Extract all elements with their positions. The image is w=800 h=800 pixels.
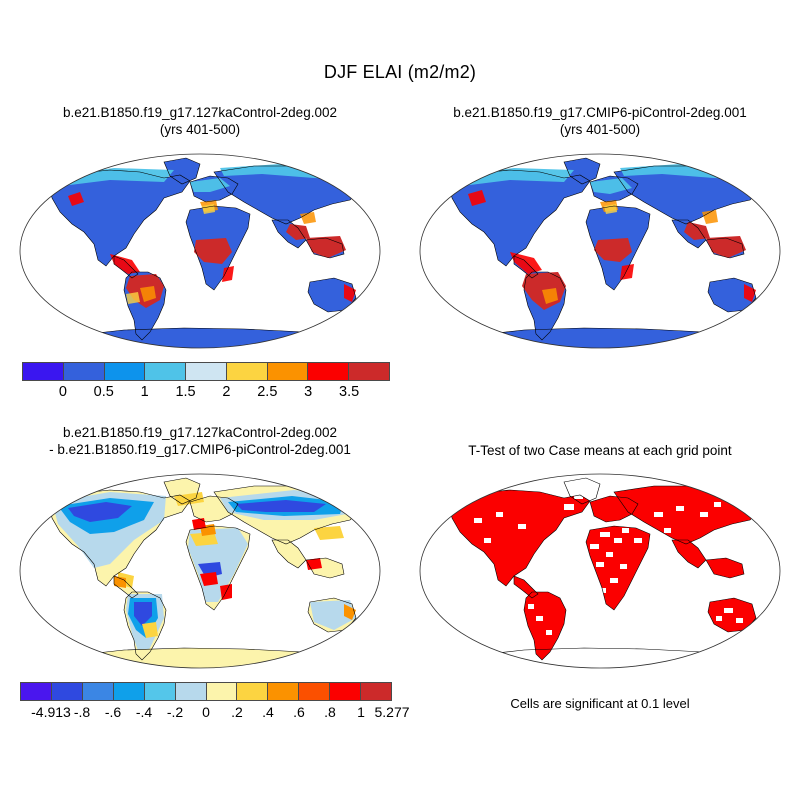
colorbar-tick-label: -.8 bbox=[74, 704, 90, 720]
colorbar-top-left: 00.511.522.533.5 bbox=[22, 362, 390, 414]
colorbar-cell-11 bbox=[361, 683, 391, 700]
colorbar-cell-7 bbox=[308, 363, 349, 380]
colorbar-tick-label: -.6 bbox=[105, 704, 121, 720]
colorbar-tick-label: 0 bbox=[59, 384, 67, 400]
colorbar-cell-4 bbox=[186, 363, 227, 380]
panel-top-right: b.e21.B1850.f19_g17.CMIP6-piControl-2deg… bbox=[400, 100, 800, 430]
map-svg-difference bbox=[14, 468, 386, 678]
colorbar-cell-3 bbox=[145, 363, 186, 380]
colorbar-cell-0 bbox=[23, 363, 64, 380]
colorbar-cell-2 bbox=[83, 683, 114, 700]
colorbar-labels: -4.913-.8-.6-.4-.20.2.4.6.815.277 bbox=[20, 704, 392, 726]
colorbar-cell-9 bbox=[299, 683, 330, 700]
significance-note: Cells are significant at 0.1 level bbox=[400, 696, 800, 711]
colorbar-strip bbox=[22, 362, 390, 381]
colorbar-tick-label: .2 bbox=[231, 704, 243, 720]
colorbar-tick-label: -.2 bbox=[167, 704, 183, 720]
panel-bottom-right-title: T-Test of two Case means at each grid po… bbox=[400, 442, 800, 459]
colorbar-cell-4 bbox=[145, 683, 176, 700]
panel-top-left: b.e21.B1850.f19_g17.127kaControl-2deg.00… bbox=[0, 100, 400, 430]
colorbar-cell-5 bbox=[227, 363, 268, 380]
colorbar-tick-label: 3 bbox=[304, 384, 312, 400]
colorbar-cell-10 bbox=[330, 683, 361, 700]
colorbar-cell-5 bbox=[176, 683, 207, 700]
colorbar-tick-label: 1 bbox=[357, 704, 365, 720]
colorbar-tick-label: .8 bbox=[324, 704, 336, 720]
colorbar-cell-6 bbox=[268, 363, 309, 380]
colorbar-cell-1 bbox=[52, 683, 83, 700]
colorbar-tick-label: 0.5 bbox=[94, 384, 114, 400]
panel-bottom-right: T-Test of two Case means at each grid po… bbox=[400, 420, 800, 750]
map-field-case1 bbox=[14, 148, 386, 358]
colorbar-difference: -4.913-.8-.6-.4-.20.2.4.6.815.277 bbox=[20, 682, 392, 734]
panel-top-right-title: b.e21.B1850.f19_g17.CMIP6-piControl-2deg… bbox=[400, 104, 800, 138]
map-top-right bbox=[414, 148, 786, 358]
panel-bottom-left: b.e21.B1850.f19_g17.127kaControl-2deg.00… bbox=[0, 420, 400, 750]
map-bottom-right bbox=[414, 468, 786, 678]
colorbar-cell-8 bbox=[268, 683, 299, 700]
colorbar-strip bbox=[20, 682, 392, 701]
map-bottom-left bbox=[14, 468, 386, 678]
map-top-left bbox=[14, 148, 386, 358]
colorbar-tick-label: -4.913 bbox=[31, 704, 71, 720]
colorbar-cell-2 bbox=[105, 363, 146, 380]
colorbar-tick-label: 1.5 bbox=[175, 384, 195, 400]
map-svg-case1 bbox=[14, 148, 386, 358]
colorbar-tick-label: -.4 bbox=[136, 704, 152, 720]
figure-title: DJF ELAI (m2/m2) bbox=[0, 62, 800, 83]
colorbar-cell-7 bbox=[237, 683, 268, 700]
map-field-case2 bbox=[414, 148, 786, 358]
colorbar-tick-label: 0 bbox=[202, 704, 210, 720]
colorbar-tick-label: 2 bbox=[222, 384, 230, 400]
panel-top-left-title: b.e21.B1850.f19_g17.127kaControl-2deg.00… bbox=[0, 104, 400, 138]
colorbar-tick-label: 2.5 bbox=[257, 384, 277, 400]
colorbar-labels: 00.511.522.533.5 bbox=[22, 384, 390, 406]
colorbar-tick-label: 3.5 bbox=[339, 384, 359, 400]
colorbar-tick-label: .4 bbox=[262, 704, 274, 720]
map-svg-case2 bbox=[414, 148, 786, 358]
colorbar-tick-label: .6 bbox=[293, 704, 305, 720]
colorbar-cell-1 bbox=[64, 363, 105, 380]
colorbar-cell-6 bbox=[207, 683, 238, 700]
figure-root: DJF ELAI (m2/m2) b.e21.B1850.f19_g17.127… bbox=[0, 0, 800, 800]
colorbar-cell-0 bbox=[21, 683, 52, 700]
colorbar-cell-8 bbox=[349, 363, 389, 380]
map-field-difference bbox=[14, 468, 386, 678]
map-field-ttest bbox=[414, 468, 786, 678]
map-svg-ttest bbox=[414, 468, 786, 678]
panel-bottom-left-title: b.e21.B1850.f19_g17.127kaControl-2deg.00… bbox=[0, 424, 400, 458]
colorbar-cell-3 bbox=[114, 683, 145, 700]
colorbar-tick-label: 1 bbox=[141, 384, 149, 400]
